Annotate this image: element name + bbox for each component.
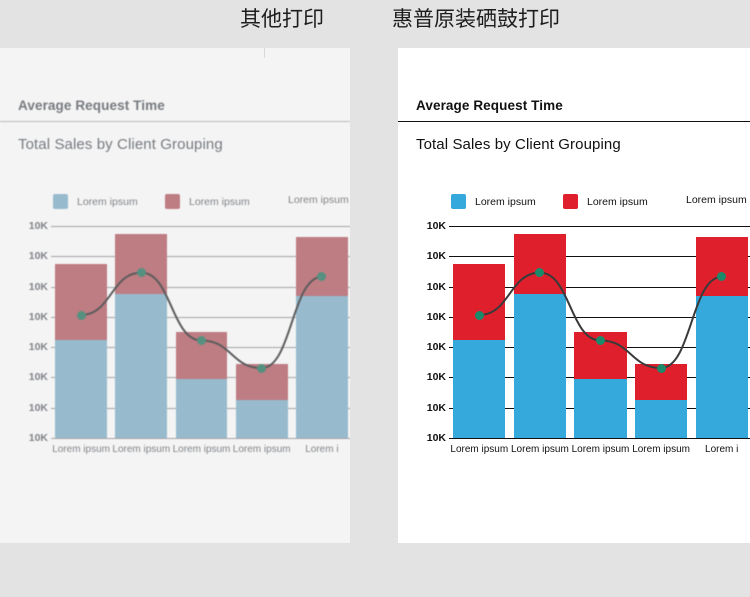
line-series: [51, 226, 350, 438]
line-series: [449, 226, 750, 438]
x-axis-tick-label: Lorem ipsum: [112, 444, 170, 455]
y-axis-tick-label: 10K: [427, 220, 446, 232]
y-axis-tick-label: 10K: [427, 281, 446, 293]
y-axis-tick-label: 10K: [29, 311, 48, 323]
gridline: [449, 438, 750, 439]
legend-label: Lorem ipsum: [288, 194, 349, 206]
x-axis-tick-label: Lorem ipsum: [52, 444, 110, 455]
legend-swatch-icon: [451, 194, 466, 209]
y-axis-tick-label: 10K: [29, 402, 48, 414]
printout-panel-other: Average Request TimeTotal Sales by Clien…: [0, 48, 350, 543]
column-headings: 其他打印 惠普原装硒鼓打印: [0, 0, 750, 44]
legend-label: Lorem ipsum: [587, 196, 648, 208]
y-axis-tick-label: 10K: [29, 341, 48, 353]
legend-label: Lorem ipsum: [77, 196, 138, 208]
y-axis-labels: 10K10K10K10K10K10K10K10K: [0, 226, 48, 438]
chart-legend: Lorem ipsumLorem ipsumLorem ipsum: [398, 194, 750, 216]
line-marker[interactable]: [596, 336, 605, 345]
card-header: Average Request Time: [0, 88, 350, 136]
plot-area: 10K10K10K10K10K10K10K10KLorem ipsumLorem…: [398, 226, 750, 543]
y-axis-tick-label: 10K: [427, 341, 446, 353]
chart-title: Total Sales by Client Grouping: [18, 136, 223, 153]
card-title: Average Request Time: [18, 98, 165, 113]
line-marker[interactable]: [137, 268, 146, 277]
legend-item[interactable]: Lorem ipsum: [165, 194, 250, 209]
header-divider: [398, 121, 750, 122]
legend-label: Lorem ipsum: [189, 196, 250, 208]
legend-item[interactable]: Lorem ipsum: [563, 194, 648, 209]
y-axis-tick-label: 10K: [427, 250, 446, 262]
x-axis-labels: Lorem ipsumLorem ipsumLorem ipsumLorem i…: [51, 444, 350, 462]
line-marker[interactable]: [657, 364, 666, 373]
x-axis-tick-label: Lorem i: [305, 444, 338, 455]
legend-swatch-icon: [563, 194, 578, 209]
legend-item[interactable]: Lorem ipsum: [288, 194, 349, 206]
legend-item[interactable]: Lorem ipsum: [686, 194, 747, 206]
line-marker[interactable]: [475, 311, 484, 320]
line-marker[interactable]: [77, 311, 86, 320]
x-axis-labels: Lorem ipsumLorem ipsumLorem ipsumLorem i…: [449, 444, 750, 462]
gridline: [51, 438, 350, 439]
y-axis-tick-label: 10K: [29, 432, 48, 444]
printout-panel-hp-original: Average Request TimeTotal Sales by Clien…: [398, 48, 750, 543]
y-axis-tick-label: 10K: [29, 281, 48, 293]
trend-line: [479, 273, 721, 368]
legend-swatch-icon: [165, 194, 180, 209]
x-axis-tick-label: Lorem ipsum: [233, 444, 291, 455]
card-title: Average Request Time: [416, 98, 563, 113]
x-axis-tick-label: Lorem ipsum: [450, 444, 508, 455]
legend-label: Lorem ipsum: [686, 194, 747, 206]
trend-line: [81, 273, 322, 368]
y-axis-tick-label: 10K: [427, 402, 446, 414]
y-axis-tick-label: 10K: [427, 311, 446, 323]
legend-item[interactable]: Lorem ipsum: [451, 194, 536, 209]
card-header: Average Request Time: [398, 88, 750, 136]
line-marker[interactable]: [257, 364, 266, 373]
legend-swatch-icon: [53, 194, 68, 209]
x-axis-tick-label: Lorem i: [705, 444, 738, 455]
chart-sheet-faded: Average Request TimeTotal Sales by Clien…: [0, 48, 350, 543]
heading-other-printing: 其他打印: [240, 3, 324, 33]
chart-legend: Lorem ipsumLorem ipsumLorem ipsum: [0, 194, 350, 216]
chart-sheet-crisp: Average Request TimeTotal Sales by Clien…: [398, 48, 750, 543]
x-axis-tick-label: Lorem ipsum: [511, 444, 569, 455]
y-axis-tick-label: 10K: [29, 250, 48, 262]
legend-item[interactable]: Lorem ipsum: [53, 194, 138, 209]
chart-title: Total Sales by Client Grouping: [416, 136, 621, 153]
x-axis-tick-label: Lorem ipsum: [173, 444, 231, 455]
x-axis-tick-label: Lorem ipsum: [632, 444, 690, 455]
y-axis-tick-label: 10K: [29, 371, 48, 383]
y-axis-tick-label: 10K: [427, 371, 446, 383]
line-marker[interactable]: [197, 336, 206, 345]
x-axis-tick-label: Lorem ipsum: [572, 444, 630, 455]
y-axis-tick-label: 10K: [29, 220, 48, 232]
y-axis-labels: 10K10K10K10K10K10K10K10K: [398, 226, 446, 438]
legend-label: Lorem ipsum: [475, 196, 536, 208]
heading-hp-original-toner-printing: 惠普原装硒鼓打印: [392, 3, 560, 33]
y-axis-tick-label: 10K: [427, 432, 446, 444]
header-divider: [0, 121, 350, 122]
plot-area: 10K10K10K10K10K10K10K10KLorem ipsumLorem…: [0, 226, 350, 543]
